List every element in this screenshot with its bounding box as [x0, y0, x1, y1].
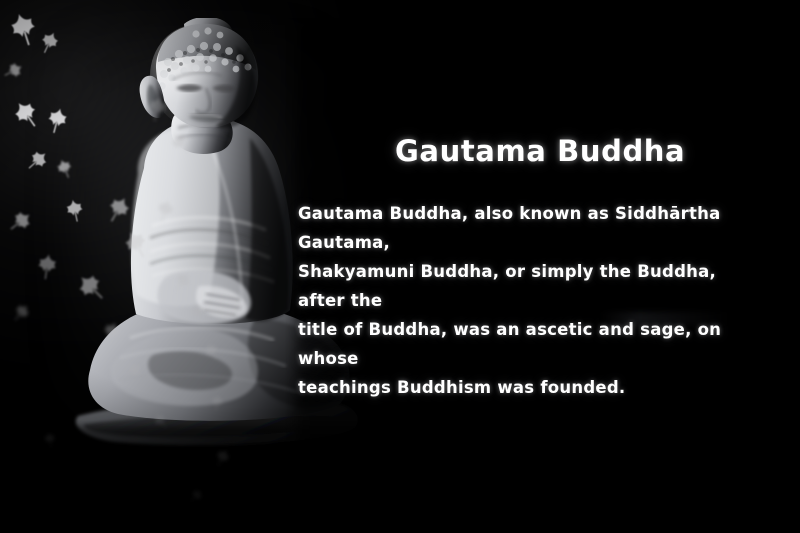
page-title: Gautama Buddha	[395, 134, 685, 168]
description-line: Shakyamuni Buddha, or simply the Buddha,…	[298, 257, 768, 315]
ghost-artifact	[600, 312, 730, 326]
description-line: teachings Buddhism was founded.	[298, 373, 768, 402]
description-line: Gautama Buddha, also known as Siddhārtha…	[298, 199, 768, 257]
description-text: Gautama Buddha, also known as Siddhārtha…	[298, 199, 768, 402]
poster-canvas: Gautama Buddha Gautama Buddha, also know…	[0, 0, 800, 533]
